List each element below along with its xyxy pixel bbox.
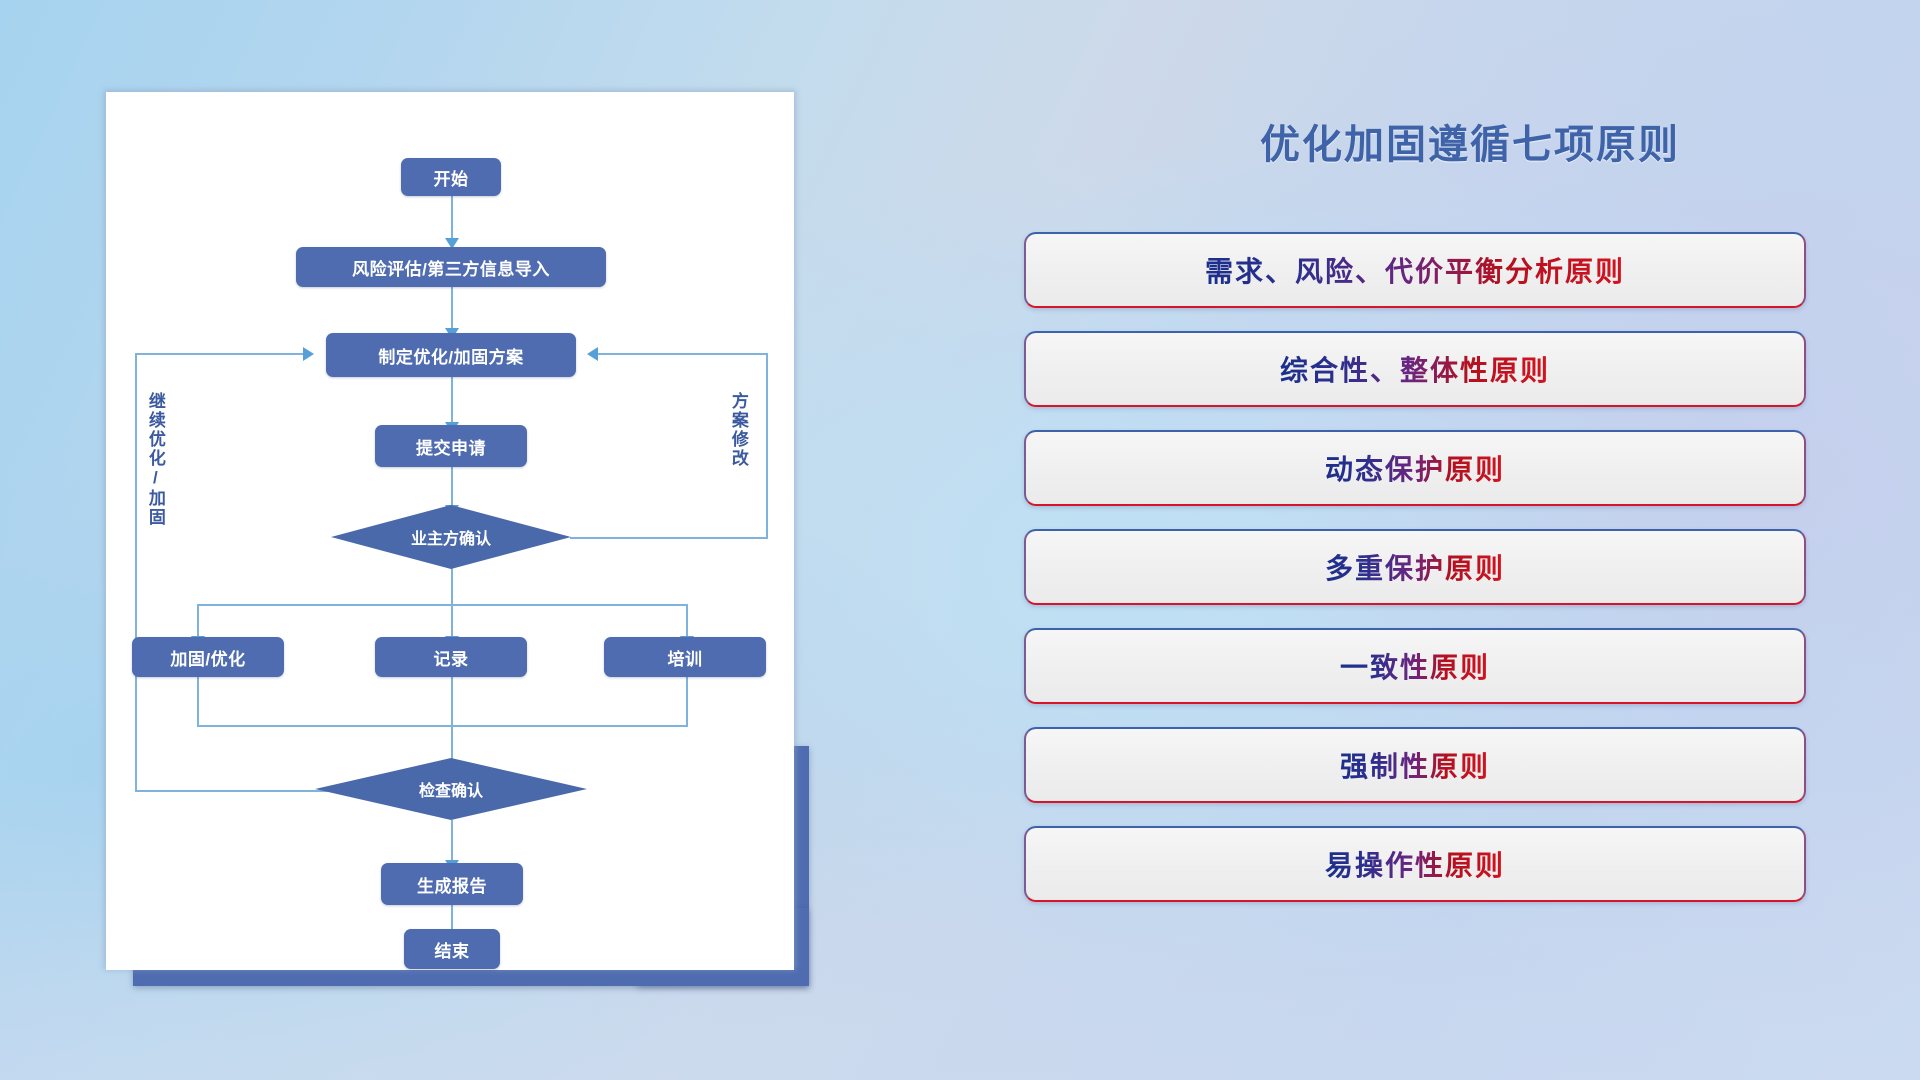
- connector-split-bar: [197, 604, 687, 606]
- principle-card-6-label: 强制性原则: [1340, 745, 1490, 785]
- flow-node-record[interactable]: 记录: [375, 637, 527, 677]
- principle-card-1[interactable]: 需求、风险、代价平衡分析原则: [1024, 232, 1806, 308]
- flow-node-end[interactable]: 结束: [404, 929, 500, 969]
- principle-card-4-label: 多重保护原则: [1325, 547, 1505, 587]
- principle-card-7[interactable]: 易操作性原则: [1024, 826, 1806, 902]
- flow-node-plan-label: 制定优化/加固方案: [378, 343, 523, 368]
- flow-node-owner-confirm[interactable]: 业主方确认: [331, 505, 571, 569]
- principles-panel: 优化加固遵循七项原则 需求、风险、代价平衡分析原则 综合性、整体性原则 动态保护…: [1020, 0, 1920, 1080]
- principle-card-3-label: 动态保护原则: [1325, 448, 1505, 488]
- flow-node-training[interactable]: 培训: [604, 637, 766, 677]
- arrow-left-loop-into-plan: [303, 347, 314, 361]
- flow-node-submit-label: 提交申请: [416, 434, 486, 459]
- flow-node-check-confirm[interactable]: 检查确认: [315, 758, 587, 820]
- arrow-right-loop-into-plan: [587, 347, 598, 361]
- flow-node-plan[interactable]: 制定优化/加固方案: [326, 333, 576, 377]
- edge-label-plan-revision: 方案修改: [729, 392, 747, 510]
- connector-record-down: [451, 677, 453, 763]
- connector-risk-plan: [451, 285, 453, 330]
- connector-right-to-plan: [598, 353, 768, 355]
- connector-check-left: [135, 790, 331, 792]
- edge-label-continue-optimize: 继续优化/加固: [146, 392, 164, 562]
- principles-list: 需求、风险、代价平衡分析原则 综合性、整体性原则 动态保护原则 多重保护原则 一…: [1020, 232, 1920, 925]
- connector-plan-submit: [451, 377, 453, 424]
- flow-node-start[interactable]: 开始: [401, 158, 501, 196]
- flow-node-report[interactable]: 生成报告: [381, 863, 523, 905]
- flow-node-record-label: 记录: [434, 645, 469, 670]
- flow-node-training-label: 培训: [668, 645, 703, 670]
- flow-node-risk-assessment-label: 风险评估/第三方信息导入: [352, 255, 550, 280]
- flow-node-reinforce[interactable]: 加固/优化: [132, 637, 284, 677]
- principle-card-5-label: 一致性原则: [1340, 646, 1490, 686]
- connector-reinforce-down: [197, 677, 199, 727]
- flow-node-start-label: 开始: [434, 165, 469, 190]
- connector-owner-down: [451, 568, 453, 605]
- connector-left-to-plan: [135, 353, 305, 355]
- connector-check-report: [451, 820, 453, 862]
- flow-node-reinforce-label: 加固/优化: [170, 645, 245, 670]
- principle-card-2[interactable]: 综合性、整体性原则: [1024, 331, 1806, 407]
- connector-owner-right: [570, 537, 768, 539]
- principle-card-5[interactable]: 一致性原则: [1024, 628, 1806, 704]
- flow-node-submit[interactable]: 提交申请: [375, 425, 527, 467]
- principle-card-6[interactable]: 强制性原则: [1024, 727, 1806, 803]
- principle-card-7-label: 易操作性原则: [1325, 844, 1505, 884]
- connector-split-mid: [451, 604, 453, 638]
- connector-start-risk: [451, 194, 453, 240]
- principle-card-3[interactable]: 动态保护原则: [1024, 430, 1806, 506]
- principle-card-2-label: 综合性、整体性原则: [1280, 349, 1550, 389]
- connector-split-right: [686, 604, 688, 638]
- principle-card-4[interactable]: 多重保护原则: [1024, 529, 1806, 605]
- flow-node-check-confirm-label: 检查确认: [419, 777, 483, 801]
- principle-card-1-label: 需求、风险、代价平衡分析原则: [1205, 250, 1625, 290]
- connector-submit-owner: [451, 467, 453, 508]
- flow-node-owner-confirm-label: 业主方确认: [411, 525, 491, 549]
- connector-left-up: [135, 353, 137, 791]
- connector-merge-bar: [197, 725, 687, 727]
- panel-title: 优化加固遵循七项原则: [1150, 112, 1790, 170]
- flow-node-end-label: 结束: [435, 937, 470, 962]
- flowchart-panel: 开始 风险评估/第三方信息导入 制定优化/加固方案 提交申请 业主方确认 加固/…: [0, 0, 880, 1080]
- flow-node-risk-assessment[interactable]: 风险评估/第三方信息导入: [296, 247, 606, 287]
- connector-training-down: [686, 677, 688, 727]
- connector-split-left: [197, 604, 199, 638]
- flow-node-report-label: 生成报告: [417, 872, 487, 897]
- connector-right-up: [766, 354, 768, 539]
